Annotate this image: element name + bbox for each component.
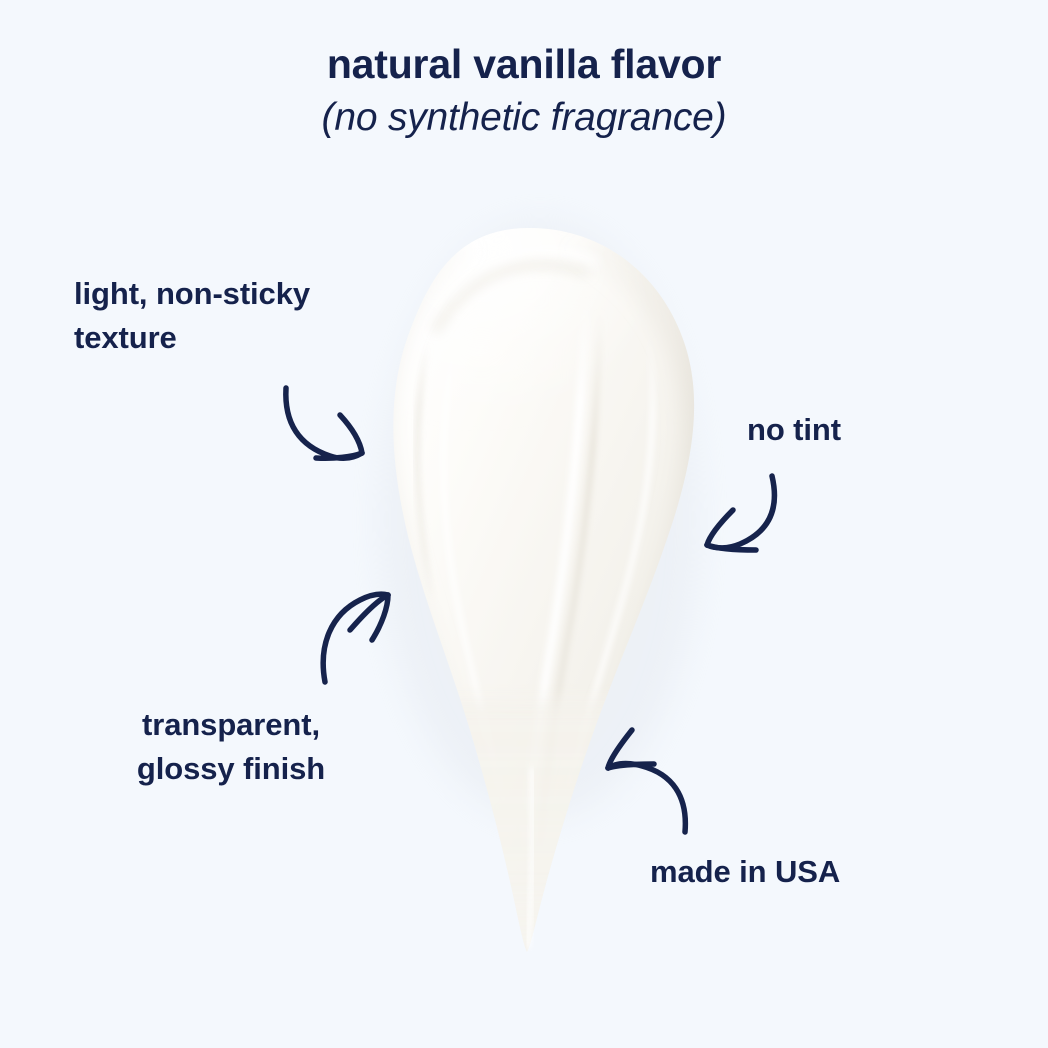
- callout-label-glossy-finish: transparent, glossy finish: [110, 703, 352, 791]
- callout-label-no-tint: no tint: [747, 408, 841, 452]
- arrow-to-glossy-icon: [323, 594, 388, 682]
- callout-label-texture: light, non-sticky texture: [74, 272, 310, 360]
- callout-label-made-in-usa: made in USA: [650, 850, 840, 894]
- product-infographic: natural vanilla flavor (no synthetic fra…: [0, 0, 1048, 1048]
- callout-arrows: [0, 0, 1048, 1048]
- arrow-to-texture-icon: [286, 388, 362, 458]
- arrow-to-no-tint-icon: [707, 476, 774, 550]
- arrow-to-made-usa-icon: [608, 730, 685, 832]
